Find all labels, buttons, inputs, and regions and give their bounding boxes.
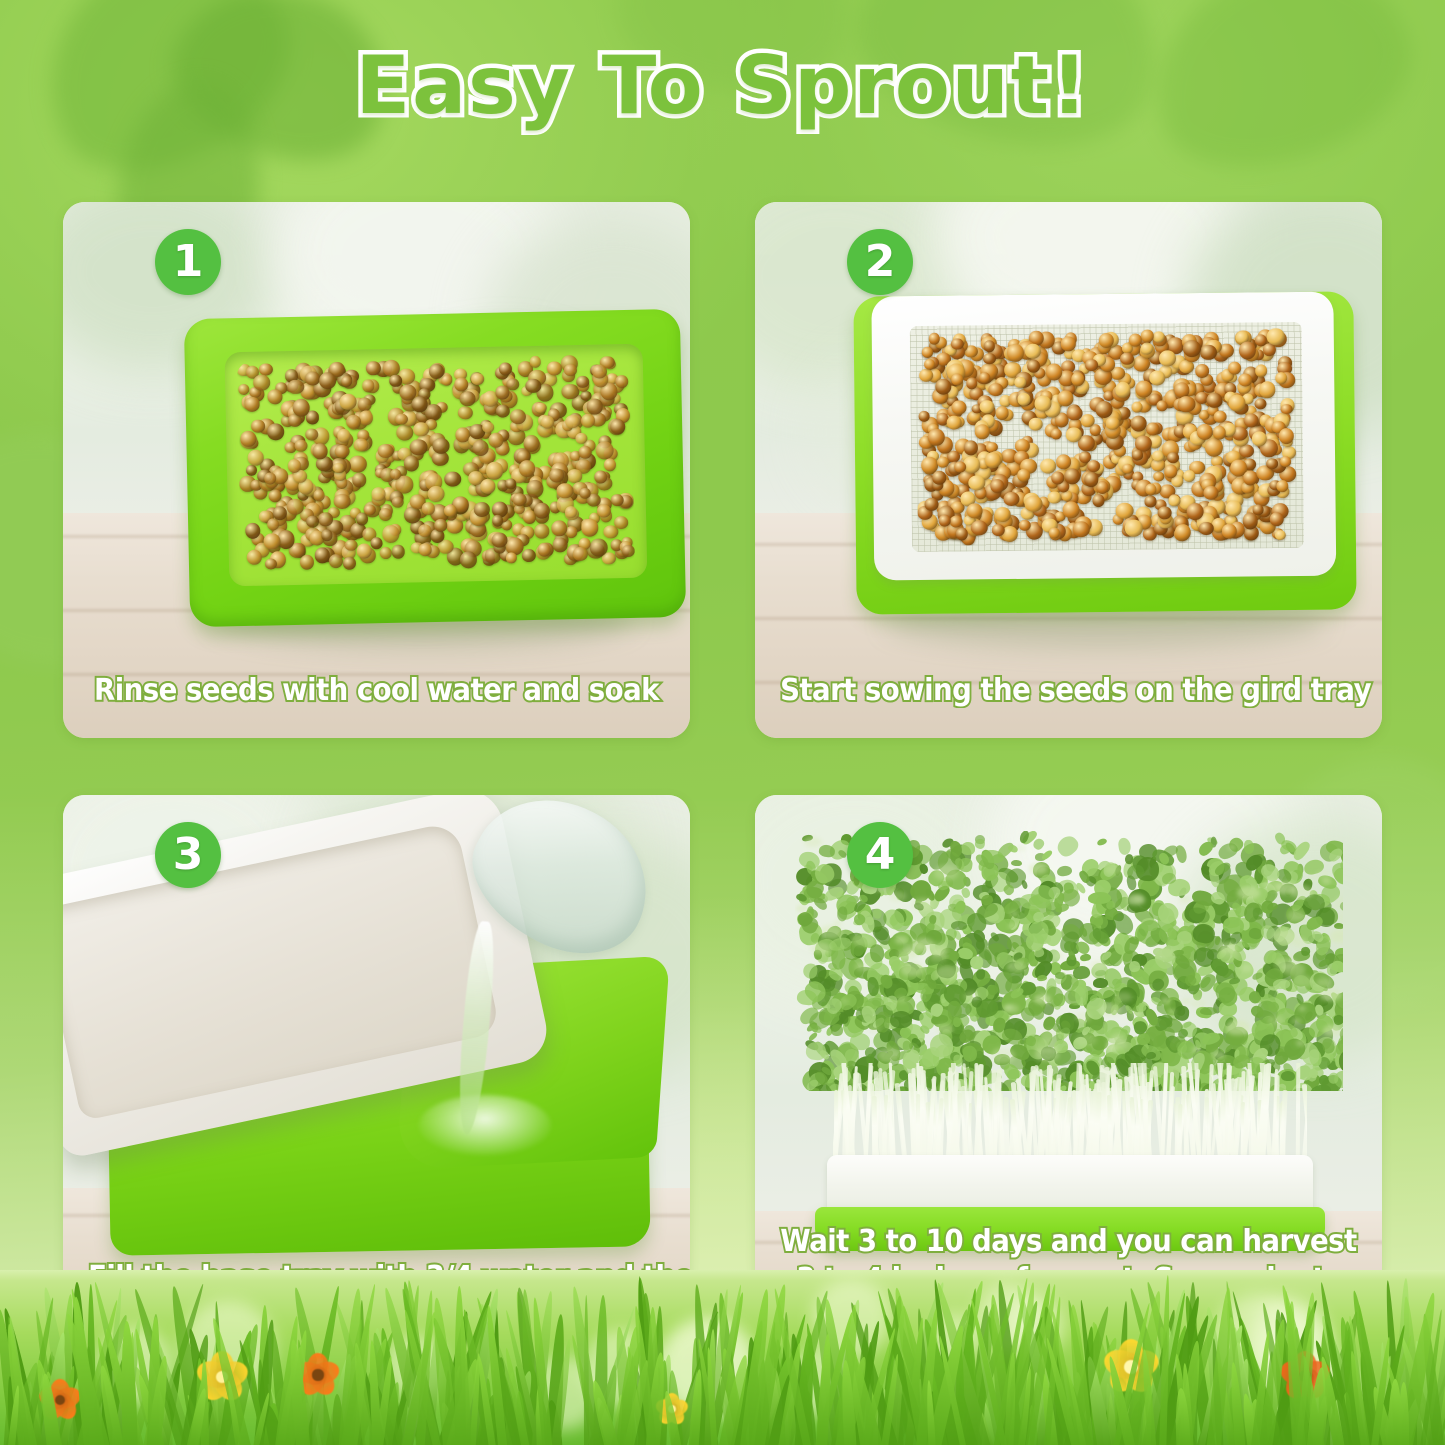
seed: [1064, 468, 1081, 484]
seed: [1186, 503, 1203, 521]
seed: [1140, 343, 1153, 355]
seed: [458, 406, 474, 420]
seed: [1167, 453, 1179, 464]
sprout-leaf: [952, 1017, 961, 1028]
seed: [334, 494, 351, 509]
canopy-highlight: [913, 938, 934, 950]
seed: [1028, 418, 1042, 431]
canopy-highlight: [1075, 1012, 1091, 1022]
canopy-highlight: [868, 1025, 881, 1033]
seed: [434, 519, 448, 532]
seed: [379, 508, 392, 521]
step-card-2: 2 Start sowing the seeds on the gird tra…: [755, 202, 1382, 738]
canopy-highlight: [1273, 930, 1297, 944]
sprout-leaf: [1056, 865, 1072, 878]
seed: [482, 421, 494, 432]
seed: [238, 383, 249, 395]
seed: [979, 372, 991, 383]
seed: [244, 397, 260, 412]
sprout-leaf: [802, 962, 818, 979]
seed: [1003, 492, 1019, 506]
seed: [253, 375, 270, 391]
seed: [355, 513, 368, 526]
seed: [995, 406, 1009, 420]
canopy-highlight: [1298, 1006, 1307, 1011]
caption-line: Rinse seeds with cool water and soak: [88, 672, 665, 710]
canopy-highlight: [1041, 1029, 1063, 1042]
step-badge-3: 3: [155, 822, 221, 888]
seed: [947, 416, 962, 430]
seed: [1115, 502, 1133, 519]
seed: [1062, 501, 1080, 518]
canopy-highlight: [1054, 953, 1063, 958]
seed: [1175, 524, 1191, 541]
canopy-highlight: [1322, 878, 1331, 883]
seed: [1144, 496, 1157, 507]
canopy-highlight: [1212, 1051, 1224, 1058]
seed: [1226, 501, 1242, 517]
seed: [246, 549, 261, 564]
canopy-highlight: [1323, 1025, 1341, 1036]
canopy-highlight: [901, 962, 923, 975]
canopy-highlight: [1267, 1015, 1284, 1025]
seed: [505, 552, 516, 563]
seed: [952, 400, 967, 414]
seed: [339, 394, 356, 410]
seed: [1275, 530, 1286, 540]
seed: [564, 364, 577, 376]
seed: [565, 506, 577, 518]
sprout-leaf: [976, 969, 985, 980]
seed: [1095, 401, 1113, 418]
sprout-leaf: [1333, 1014, 1343, 1026]
sprout-leaf: [1054, 832, 1082, 859]
seed: [267, 389, 282, 404]
seed: [1025, 495, 1043, 512]
seed: [313, 443, 328, 459]
canopy-highlight: [1035, 1047, 1058, 1061]
canopy-highlight: [1104, 864, 1123, 875]
seed: [529, 356, 541, 368]
seed: [480, 479, 496, 494]
seed: [486, 462, 503, 480]
canopy-highlight: [1152, 946, 1174, 959]
seed: [1243, 471, 1257, 485]
canopy-highlight: [1115, 992, 1132, 1002]
sprout-leaf: [890, 1011, 912, 1029]
sown-seeds: [916, 328, 1298, 546]
seed: [321, 529, 333, 541]
seed: [1125, 519, 1143, 537]
seed: [547, 361, 562, 376]
seed: [984, 340, 996, 351]
canopy-highlight: [991, 1048, 1015, 1062]
step-badge-1: 1: [155, 229, 221, 295]
canopy-highlight: [1133, 896, 1143, 902]
canopy-highlight: [1191, 1047, 1200, 1052]
seed: [954, 461, 966, 472]
seed: [264, 472, 276, 484]
seed: [240, 431, 256, 446]
grass-footer: [0, 1270, 1445, 1445]
seed: [1183, 470, 1196, 483]
seed: [265, 559, 277, 570]
step-badge-2: 2: [847, 229, 913, 295]
seed: [348, 455, 366, 473]
seed: [1084, 472, 1098, 487]
seed: [951, 338, 964, 350]
seed: [1280, 456, 1292, 467]
seed: [428, 485, 445, 502]
canopy-highlight: [1007, 961, 1026, 972]
canopy-highlight: [895, 936, 909, 944]
seed: [1156, 401, 1167, 412]
seed: [990, 479, 1004, 493]
seed: [622, 545, 635, 558]
seed: [541, 416, 554, 429]
seed: [267, 424, 285, 441]
seed: [432, 438, 450, 454]
canopy-highlight: [936, 966, 958, 979]
canopy-highlight: [1034, 994, 1051, 1004]
seed: [615, 375, 628, 388]
seed: [971, 520, 988, 535]
seed: [567, 469, 583, 483]
step-1-photo: [63, 202, 690, 738]
step-caption-2: Start sowing the seeds on the gird tray: [780, 672, 1357, 710]
canopy-highlight: [1132, 1011, 1141, 1017]
canopy-highlight: [1179, 895, 1191, 902]
canopy-highlight: [1290, 885, 1313, 899]
sprout-leaf: [1037, 974, 1048, 982]
seed: [576, 376, 589, 388]
seed: [300, 554, 314, 569]
seed: [410, 439, 428, 456]
canopy-highlight: [1008, 923, 1018, 929]
seed: [1195, 364, 1209, 378]
canopy-highlight: [1005, 1004, 1019, 1012]
seed: [1199, 522, 1214, 535]
seed: [380, 547, 392, 559]
canopy-highlight: [1016, 845, 1026, 851]
seed: [1259, 381, 1275, 397]
canopy-highlight: [1052, 920, 1061, 925]
seed: [378, 444, 394, 458]
seed: [1015, 376, 1027, 388]
seed: [995, 507, 1010, 521]
sprout-leaf: [1040, 849, 1053, 861]
sprout-leaf: [1273, 978, 1291, 989]
seed: [1149, 370, 1165, 385]
seed: [441, 375, 452, 386]
step-card-1: 1 Rinse seeds with cool water and soak: [63, 202, 690, 738]
seed: [444, 471, 461, 487]
sprout-leaf: [1080, 953, 1092, 962]
seed: [924, 359, 935, 370]
canopy-highlight: [889, 891, 906, 901]
seed: [344, 539, 357, 550]
canopy-highlight: [810, 942, 830, 954]
seed: [1266, 458, 1278, 469]
seed: [988, 383, 1003, 397]
seed: [273, 506, 287, 520]
seed: [1018, 519, 1030, 530]
seed: [318, 512, 332, 526]
step-2-photo: [755, 202, 1382, 738]
seed: [1269, 512, 1283, 526]
canopy-highlight: [820, 925, 842, 938]
sprout-leaf: [961, 842, 975, 855]
canopy-highlight: [1237, 886, 1260, 900]
seed: [1203, 486, 1218, 500]
seed: [980, 400, 995, 413]
seed: [421, 502, 435, 514]
canopy-highlight: [796, 905, 808, 912]
seed: [419, 543, 432, 556]
seed: [1136, 381, 1153, 398]
seed: [552, 537, 568, 552]
seed: [389, 374, 402, 387]
seed: [1228, 362, 1241, 375]
canopy-highlight: [1226, 1020, 1250, 1034]
seed: [535, 524, 550, 539]
seed: [1007, 343, 1025, 361]
seed: [1017, 393, 1030, 405]
seed: [496, 404, 510, 418]
seed: [1115, 382, 1130, 398]
canopy-highlight: [1330, 929, 1343, 943]
seed: [929, 333, 940, 345]
canopy-highlight: [1316, 978, 1331, 987]
seed: [334, 445, 349, 459]
seed: [932, 471, 946, 485]
seed: [396, 424, 414, 441]
seed: [1213, 426, 1226, 440]
seed: [460, 551, 478, 568]
seed: [251, 420, 265, 433]
canopy-highlight: [1161, 998, 1171, 1004]
seed: [956, 527, 968, 540]
sprout-leaf: [961, 887, 972, 899]
seed: [267, 518, 279, 531]
seed: [288, 379, 305, 394]
seed: [1051, 428, 1062, 440]
canopy-highlight: [1219, 942, 1237, 953]
seed: [937, 456, 949, 467]
tray-growing-pad: [63, 821, 501, 1121]
seed: [459, 391, 475, 407]
seed: [992, 524, 1005, 537]
seed: [521, 549, 536, 563]
canopy-highlight: [1182, 999, 1190, 1004]
seed: [518, 460, 535, 477]
seed: [1027, 360, 1040, 373]
seed: [573, 547, 588, 561]
seed: [1060, 336, 1076, 351]
seed: [967, 503, 983, 518]
sprout-leaf: [969, 955, 984, 970]
seed: [1178, 396, 1196, 412]
canopy-highlight: [1106, 1038, 1126, 1050]
canopy-highlight: [1320, 989, 1341, 1002]
seed: [472, 440, 489, 456]
seed: [1205, 438, 1223, 457]
canopy-highlight: [878, 1048, 899, 1061]
canopy-highlight: [1287, 910, 1305, 921]
seed: [1087, 460, 1100, 472]
canopy-highlight: [804, 837, 822, 848]
seed: [372, 487, 386, 501]
canopy-highlight: [1190, 999, 1206, 1008]
sprout-leaf: [1088, 891, 1111, 904]
seed: [392, 545, 405, 559]
seed: [1145, 484, 1156, 496]
seed: [975, 424, 990, 439]
seed: [418, 524, 432, 537]
seed: [259, 363, 273, 375]
seed: [590, 539, 608, 557]
step-badge-4: 4: [847, 822, 913, 888]
seed: [1141, 330, 1154, 342]
seed: [985, 452, 1001, 468]
canopy-highlight: [1240, 964, 1253, 972]
canopy-highlight: [1029, 863, 1047, 874]
sprout-leaf: [1073, 965, 1092, 981]
seed: [1280, 404, 1292, 415]
canopy-highlight: [1100, 1003, 1121, 1015]
caption-line: Start sowing the seeds on the gird tray: [780, 672, 1357, 710]
seed: [403, 455, 419, 471]
canopy-highlight: [840, 999, 849, 1005]
canopy-highlight: [1338, 913, 1343, 922]
seed: [1092, 494, 1104, 507]
canopy-highlight: [1075, 1033, 1098, 1047]
canopy-highlight: [1334, 896, 1343, 909]
seed: [604, 458, 617, 472]
canopy-highlight: [1010, 911, 1018, 916]
sprout-leaf: [1117, 837, 1132, 855]
seed: [343, 557, 357, 570]
seed: [1254, 398, 1266, 409]
canopy-highlight: [934, 865, 958, 879]
sprout-leaf: [1200, 1007, 1217, 1016]
seed: [1164, 465, 1178, 478]
seed: [537, 542, 551, 556]
seed: [1073, 521, 1091, 537]
grid-sowing-tray: [853, 291, 1356, 614]
canopy-highlight: [1296, 1040, 1305, 1046]
seed: [592, 365, 607, 379]
seed: [1277, 480, 1289, 492]
seed: [319, 372, 337, 390]
seed: [925, 498, 939, 511]
seed: [286, 499, 304, 515]
canopy-highlight: [1282, 962, 1305, 976]
seed: [1057, 390, 1073, 406]
seed: [492, 532, 508, 547]
sprout-leaf: [951, 921, 968, 931]
canopy-highlight: [937, 1024, 953, 1033]
canopy-highlight: [1091, 961, 1105, 970]
step-caption-1: Rinse seeds with cool water and soak: [88, 672, 665, 710]
sprout-leaf: [919, 862, 930, 874]
seed: [1255, 364, 1267, 377]
seed: [1267, 328, 1285, 345]
sprout-leaf: [1011, 860, 1023, 867]
seed: [471, 373, 484, 385]
seed: [329, 554, 344, 568]
canopy-highlight: [1263, 879, 1281, 890]
sprout-leaf: [1093, 978, 1108, 988]
flower-center: [312, 1369, 323, 1380]
seed: [496, 386, 509, 399]
seed: [579, 488, 591, 499]
sprout-leaf: [1075, 985, 1088, 1006]
seed: [581, 519, 599, 537]
seed: [392, 497, 404, 508]
canopy-highlight: [855, 962, 870, 971]
seed: [1153, 472, 1164, 482]
seed: [295, 440, 308, 452]
canopy-highlight: [852, 933, 875, 947]
seed: [1169, 495, 1180, 507]
seed: [951, 374, 963, 386]
sprout-leaf: [1176, 930, 1191, 944]
canopy-highlight: [912, 898, 933, 911]
sprout-leaf: [974, 839, 986, 850]
seed: [1239, 341, 1256, 359]
canopy-highlight: [1291, 1018, 1301, 1024]
seed-soaking-tray: [184, 309, 686, 627]
seed: [293, 398, 310, 416]
seed: [510, 409, 526, 424]
canopy-highlight: [964, 991, 979, 1000]
seed: [1206, 393, 1222, 408]
seed: [1222, 523, 1238, 538]
seed: [1024, 344, 1040, 359]
seed: [352, 473, 367, 488]
seed: [1105, 417, 1119, 430]
canopy-highlight: [1292, 975, 1312, 987]
seed: [1200, 345, 1216, 361]
seed: [580, 414, 595, 429]
seed: [382, 525, 399, 543]
seed: [1132, 450, 1143, 460]
seed: [315, 547, 330, 563]
seed: [1096, 481, 1108, 494]
sprout-leaf: [1021, 879, 1029, 889]
seed: [1159, 350, 1176, 366]
seed: [399, 384, 416, 401]
seed: [614, 516, 629, 529]
seed: [596, 441, 614, 460]
page-title: Easy To Sprout!: [0, 34, 1445, 138]
caption-line: Wait 3 to 10 days and you can harvest: [780, 1223, 1357, 1261]
seed: [1048, 491, 1062, 504]
seed: [245, 465, 257, 476]
water-splash: [419, 1095, 551, 1155]
soaking-seeds: [237, 354, 635, 574]
canopy-highlight: [896, 996, 907, 1003]
sprout-leaf: [1096, 837, 1107, 846]
seed: [526, 480, 543, 498]
